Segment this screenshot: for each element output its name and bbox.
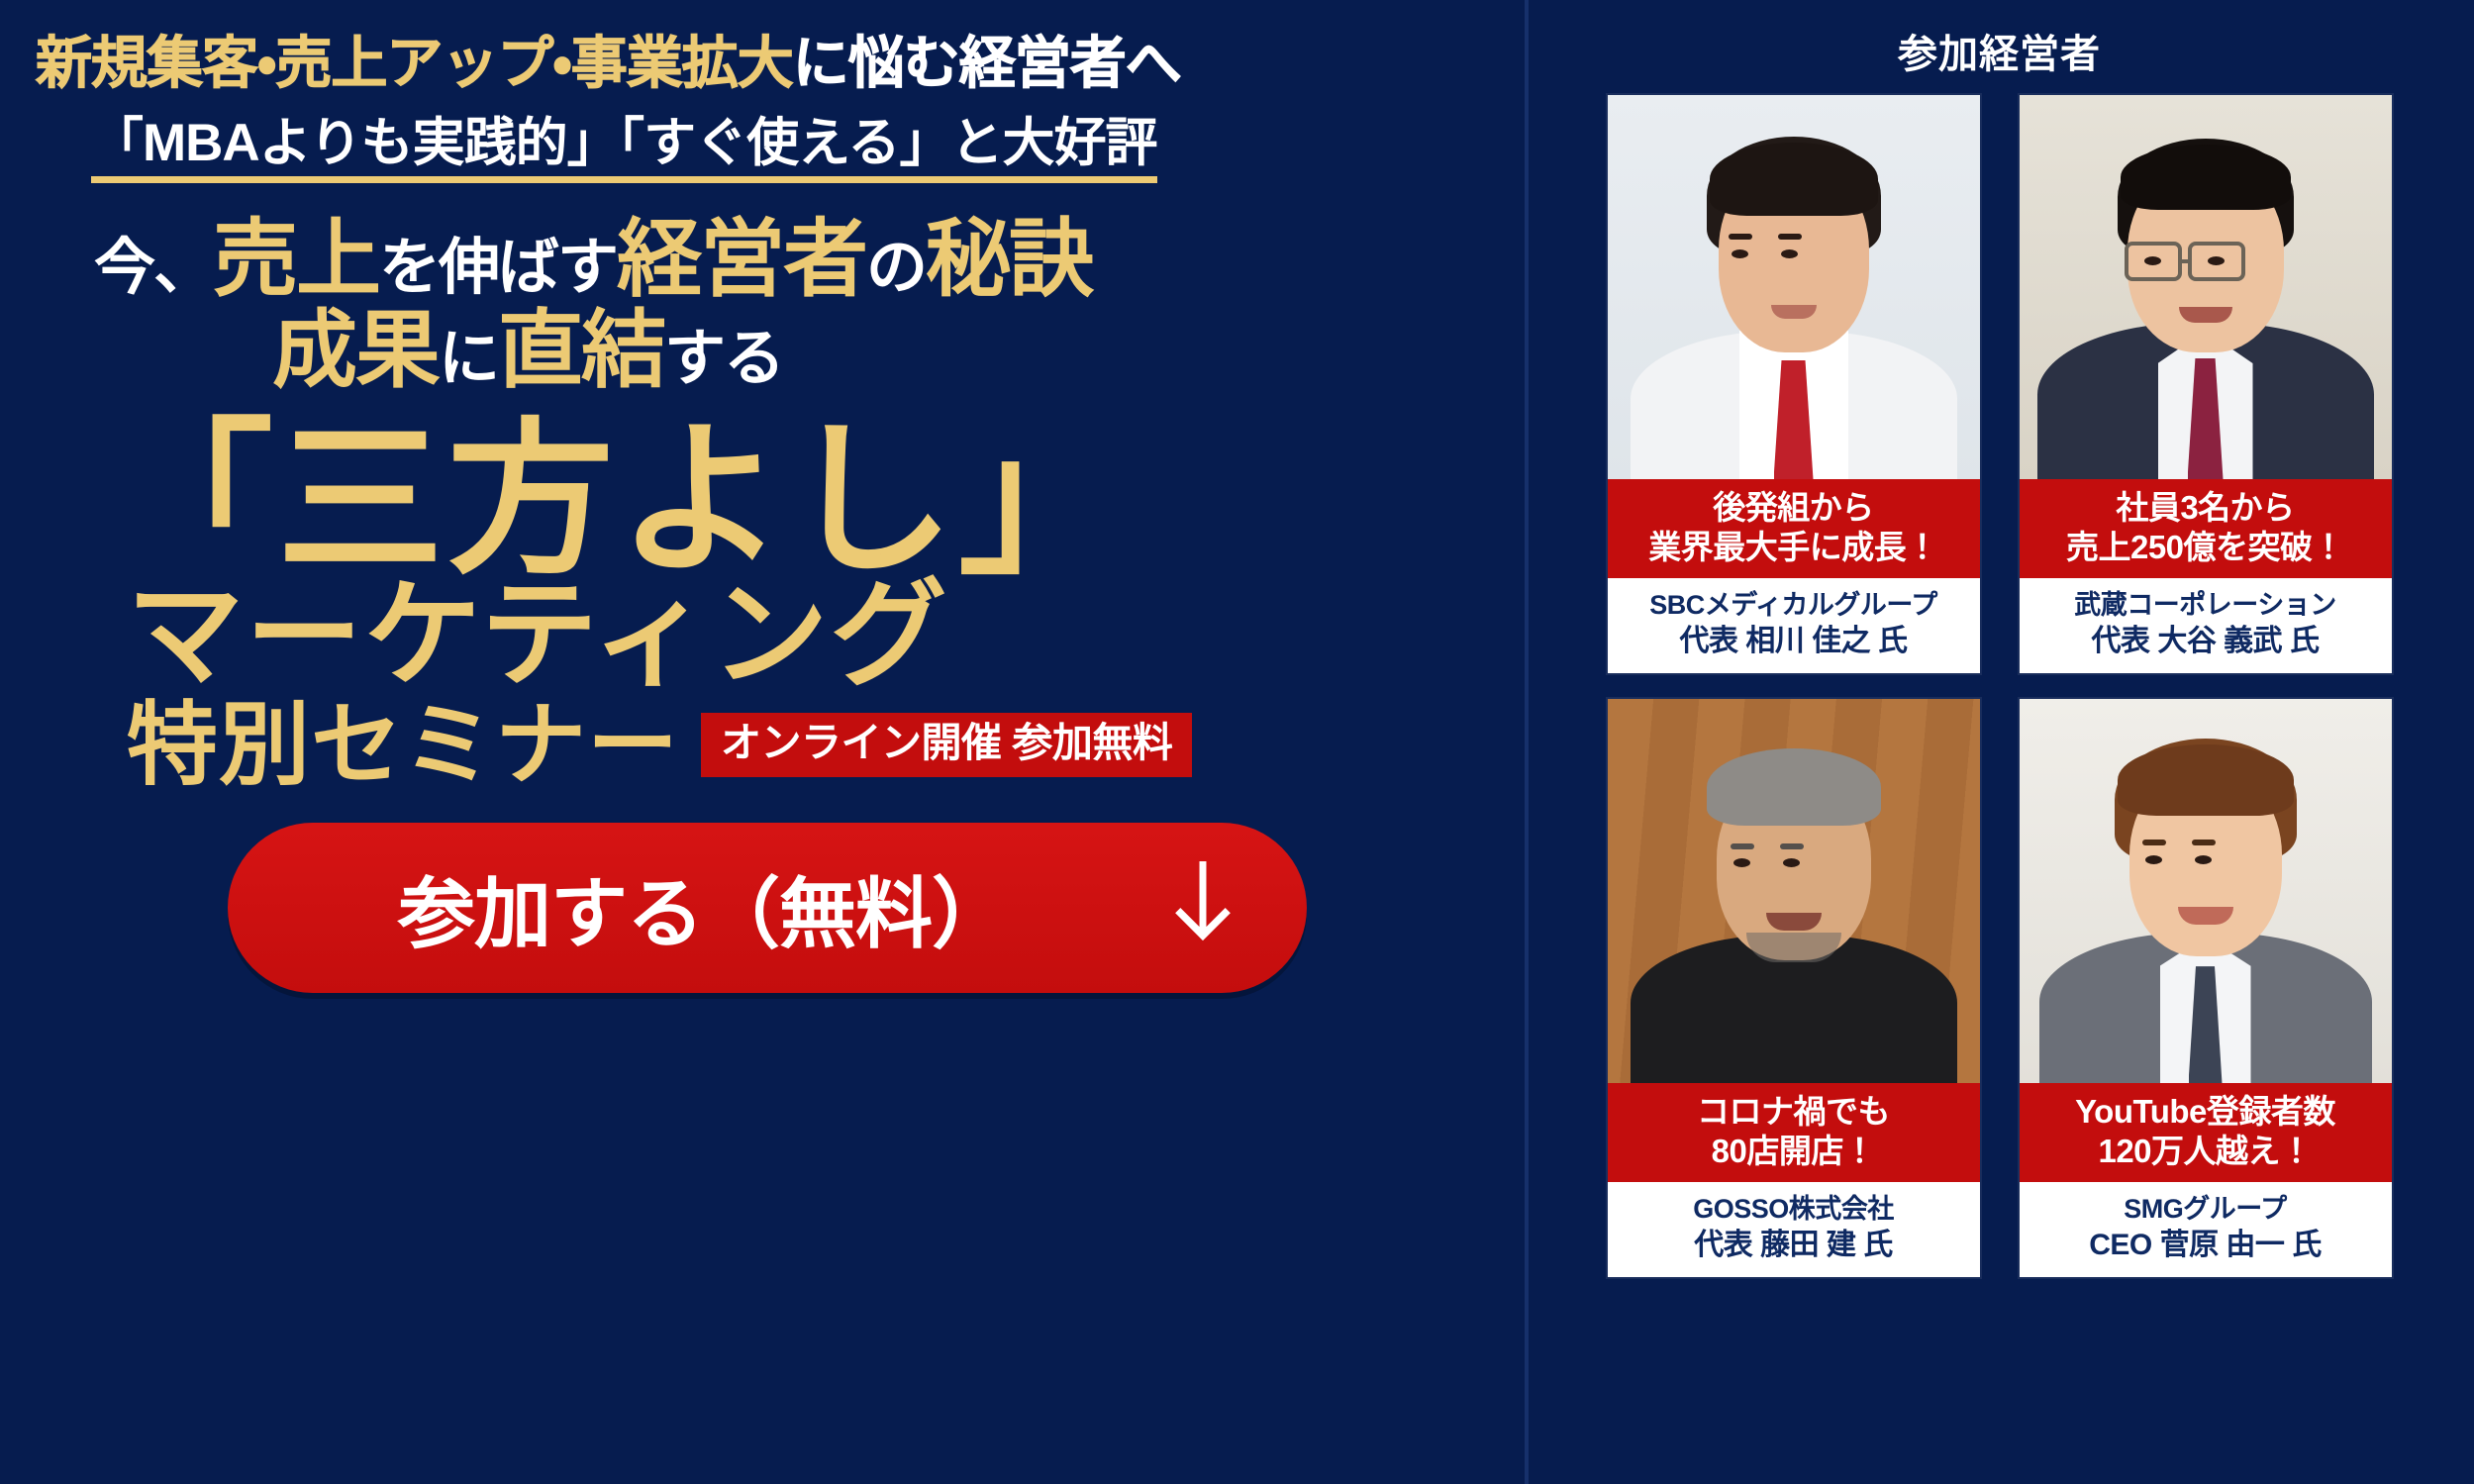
lead-1b: 売上 [213, 212, 379, 307]
card-company: SBCメディカルグループ [1649, 590, 1937, 620]
lead-1d: 経営者 [617, 212, 866, 307]
badge-line-1: オンライン開催 [721, 720, 1002, 765]
kicker-headline: 新規集客・売上アップ・事業拡大に悩む経営者へ [0, 36, 1525, 92]
kicker-gold-text: 新規集客・売上アップ・事業拡大 [36, 32, 793, 95]
card-name: GOSSO株式会社 代表 藤田 建 氏 [1608, 1182, 1980, 1277]
lead-2b: に [439, 325, 498, 393]
seminar-label: 特別セミナー [127, 700, 679, 791]
card-tag: YouTube登録者数 120万人越え！ [2020, 1083, 2392, 1182]
card-tag: 社員3名から 売上250億を突破！ [2020, 479, 2392, 578]
card-company: SMGグループ [2124, 1194, 2286, 1224]
card-tag-line1: コロナ禍でも [1697, 1093, 1890, 1130]
seminar-row: 特別セミナー オンライン開催 参加無料 [0, 700, 1525, 791]
subline-headline: 「MBAよりも実践的」「すぐ使える」と大好評 [91, 114, 1157, 183]
badge-line-2: 参加無料 [1012, 720, 1172, 765]
card-tag: 後発組から 業界最大手に成長！ [1608, 479, 1980, 578]
portrait-aikawa-photo [1608, 95, 1980, 479]
seminar-banner: 新規集客・売上アップ・事業拡大に悩む経営者へ 「MBAよりも実践的」「すぐ使える… [0, 0, 2474, 1484]
lead-headline: 今、売上を伸ばす経営者の秘訣 成果に直結する [0, 217, 1525, 394]
lead-2d: する [664, 325, 783, 393]
card-name: SMGグループ CEO 菅原 由一 氏 [2020, 1182, 2392, 1277]
lead-1c: を伸ばす [379, 234, 617, 302]
card-tag-line1: 後発組から [1713, 489, 1874, 526]
participants-panel: 参加経営者 後発組か [1525, 0, 2474, 1484]
card-tag-line2: 業界最大手に成長！ [1612, 528, 1976, 567]
portrait-sugawara-photo [2020, 699, 2392, 1083]
join-cta-label: 参加する（無料） [228, 852, 1099, 963]
lead-line-2: 成果に直結する [59, 308, 1525, 395]
card-tag-line2: 80店開店！ [1612, 1132, 1976, 1171]
online-free-badge: オンライン開催 参加無料 [701, 713, 1192, 777]
card-company: GOSSO株式会社 [1693, 1194, 1894, 1224]
portrait-fujita-photo [1608, 699, 1980, 1083]
card-name: SBCメディカルグループ 代表 相川 佳之 氏 [1608, 578, 1980, 673]
arrow-down-icon [1099, 861, 1307, 954]
portrait-otani-photo [2020, 95, 2392, 479]
left-content-column: 新規集客・売上アップ・事業拡大に悩む経営者へ 「MBAよりも実践的」「すぐ使える… [0, 0, 1525, 1484]
lead-line-1: 今、売上を伸ばす経営者の秘訣 [59, 217, 1525, 304]
card-tag: コロナ禍でも 80店開店！ [1608, 1083, 1980, 1182]
join-cta-button[interactable]: 参加する（無料） [228, 823, 1307, 993]
participant-card[interactable]: YouTube登録者数 120万人越え！ SMGグループ CEO 菅原 由一 氏 [2020, 699, 2392, 1277]
participant-card[interactable]: 後発組から 業界最大手に成長！ SBCメディカルグループ 代表 相川 佳之 氏 [1608, 95, 1980, 673]
lead-1f: 秘訣 [926, 212, 1092, 307]
card-person: 代表 大谷 義武 氏 [2024, 623, 2388, 660]
hero-title-line2: マーケティング [0, 577, 1525, 694]
card-name: 武蔵コーポレーション 代表 大谷 義武 氏 [2020, 578, 2392, 673]
card-tag-line1: YouTube登録者数 [2075, 1093, 2335, 1130]
kicker-white-text: に悩む経営者へ [793, 32, 1181, 95]
participant-card[interactable]: 社員3名から 売上250億を突破！ 武蔵コーポレーション 代表 大谷 義武 氏 [2020, 95, 2392, 673]
panel-divider [1525, 0, 1529, 1484]
card-person: CEO 菅原 由一 氏 [2024, 1227, 2388, 1264]
card-company: 武蔵コーポレーション [2074, 590, 2335, 620]
lead-1e: の [866, 234, 926, 302]
participants-panel-title: 参加経営者 [1525, 22, 2474, 79]
participant-cards-grid: 後発組から 業界最大手に成長！ SBCメディカルグループ 代表 相川 佳之 氏 [1525, 95, 2474, 1277]
card-person: 代表 相川 佳之 氏 [1612, 623, 1976, 660]
card-person: 代表 藤田 建 氏 [1612, 1227, 1976, 1264]
subline-wrapper: 「MBAよりも実践的」「すぐ使える」と大好評 [0, 114, 1525, 183]
lead-2a: 成果 [272, 303, 439, 398]
lead-1a: 今、 [94, 234, 213, 302]
card-tag-line1: 社員3名から [2116, 489, 2294, 526]
hero-title-line1: 「三方よし」 [0, 417, 1525, 583]
lead-2c: 直結 [498, 303, 664, 398]
participant-card[interactable]: コロナ禍でも 80店開店！ GOSSO株式会社 代表 藤田 建 氏 [1608, 699, 1980, 1277]
card-tag-line2: 売上250億を突破！ [2024, 528, 2388, 567]
card-tag-line2: 120万人越え！ [2024, 1132, 2388, 1171]
